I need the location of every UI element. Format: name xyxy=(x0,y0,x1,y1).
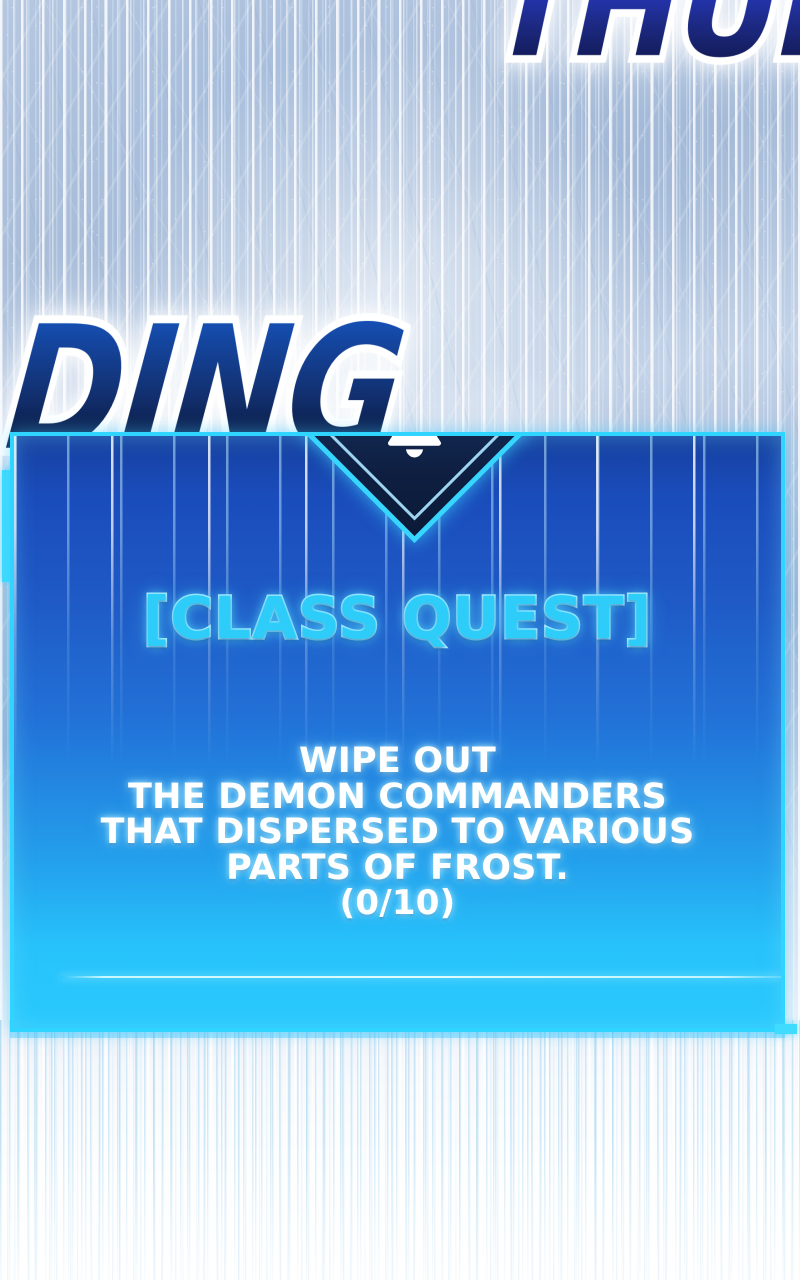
quest-progress-counter: (0/10) xyxy=(14,886,781,922)
bell-icon xyxy=(378,432,452,464)
quest-body-line-2: THE DEMON COMMANDERS xyxy=(14,780,781,816)
quest-body-text: WIPE OUT THE DEMON COMMANDERS THAT DISPE… xyxy=(14,744,781,922)
quest-body-line-4: PARTS OF FROST. xyxy=(14,851,781,887)
comic-panel-scene: THUMP THUMP DING DING [CLASS QUEST] WIPE… xyxy=(0,0,800,1280)
quest-title: [CLASS QUEST] xyxy=(14,584,781,652)
class-quest-panel[interactable]: [CLASS QUEST] WIPE OUT THE DEMON COMMAND… xyxy=(10,432,785,1032)
quest-body-line-3: THAT DISPERSED TO VARIOUS xyxy=(14,815,781,851)
frame-tick-bottom-right xyxy=(775,1024,797,1034)
sfx-thump-fill: THUMP xyxy=(489,0,800,79)
panel-divider xyxy=(60,976,781,978)
quest-body-line-1: WIPE OUT xyxy=(14,744,781,780)
bell-badge-diamond xyxy=(298,432,531,543)
